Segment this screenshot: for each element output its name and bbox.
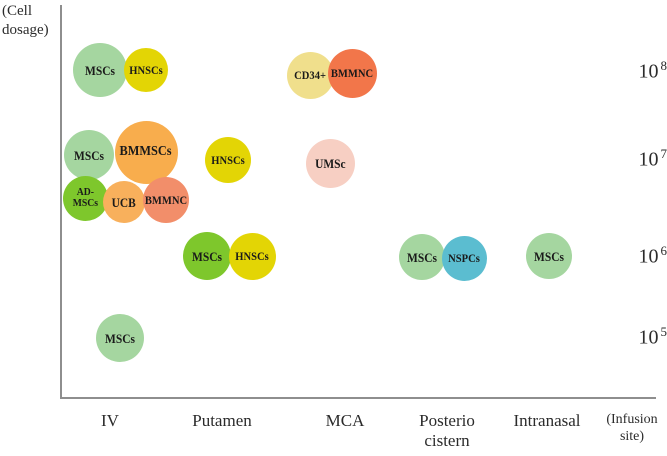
bubble-label: BMMNC: [145, 194, 187, 206]
y-tick-exponent: 7: [661, 146, 667, 161]
bubble-bmmscs: BMMSCs: [115, 121, 178, 184]
bubble-label: UCB: [112, 196, 136, 209]
y-tick-label: 107: [613, 146, 667, 172]
bubble-hnscs: HNSCs: [205, 137, 251, 183]
y-tick-exponent: 6: [661, 243, 667, 258]
y-tick-mantissa: 10: [639, 149, 659, 171]
y-tick-mantissa: 10: [639, 327, 659, 349]
y-axis-title: (Cell dosage): [2, 2, 58, 40]
bubble-mscs: MSCs: [183, 232, 231, 280]
y-tick-mantissa: 10: [639, 246, 659, 268]
bubble-bmmnc: BMMNC: [328, 49, 377, 98]
y-tick-exponent: 8: [661, 58, 667, 73]
bubble-label: HNSCs: [235, 250, 268, 262]
bubble-label: HNSCs: [129, 64, 162, 76]
y-tick-label: 108: [613, 58, 667, 84]
bubble-nspcs: NSPCs: [442, 236, 487, 281]
bubble-label: UMSc: [315, 157, 346, 170]
bubble-umsc: UMSc: [306, 139, 355, 188]
x-tick-label: (Infusion site): [572, 411, 667, 445]
x-tick-label: Putamen: [162, 411, 282, 431]
bubble-mscs: MSCs: [399, 234, 445, 280]
bubble-label: MSCs: [407, 251, 437, 264]
cell-dosage-bubble-chart: (Cell dosage) 108107106105 IVPutamenMCAP…: [0, 0, 667, 456]
bubble-label: MSCs: [534, 250, 564, 263]
bubble-label: BMMSCs: [120, 145, 172, 159]
bubble-label: MSCs: [192, 250, 222, 263]
bubble-mscs: MSCs: [73, 43, 127, 97]
bubble-ucb: UCB: [103, 181, 145, 223]
x-axis-line: [60, 397, 656, 399]
bubble-label: MSCs: [74, 149, 104, 162]
y-tick-exponent: 5: [661, 324, 667, 339]
bubble-label: MSCs: [85, 64, 115, 77]
bubble-mscs: MSCs: [64, 130, 114, 180]
bubble-mscs: MSCs: [96, 314, 144, 362]
bubble-mscs: MSCs: [526, 233, 572, 279]
x-tick-label: IV: [50, 411, 170, 431]
bubble-ad-mscs: AD- MSCs: [63, 176, 108, 221]
y-axis-line: [60, 5, 62, 399]
bubble-hnscs: HNSCs: [229, 233, 276, 280]
bubble-bmmnc: BMMNC: [143, 177, 189, 223]
bubble-label: HNSCs: [211, 154, 244, 166]
y-tick-mantissa: 10: [639, 61, 659, 83]
bubble-cd34plus: CD34+: [287, 52, 334, 99]
y-tick-label: 106: [613, 243, 667, 269]
bubble-hnscs: HNSCs: [124, 48, 168, 92]
bubble-label: AD- MSCs: [72, 187, 97, 209]
bubble-label: NSPCs: [448, 252, 480, 264]
bubble-label: MSCs: [105, 332, 135, 345]
bubble-label: BMMNC: [331, 67, 373, 79]
bubble-label: CD34+: [294, 69, 326, 81]
y-tick-label: 105: [613, 324, 667, 350]
